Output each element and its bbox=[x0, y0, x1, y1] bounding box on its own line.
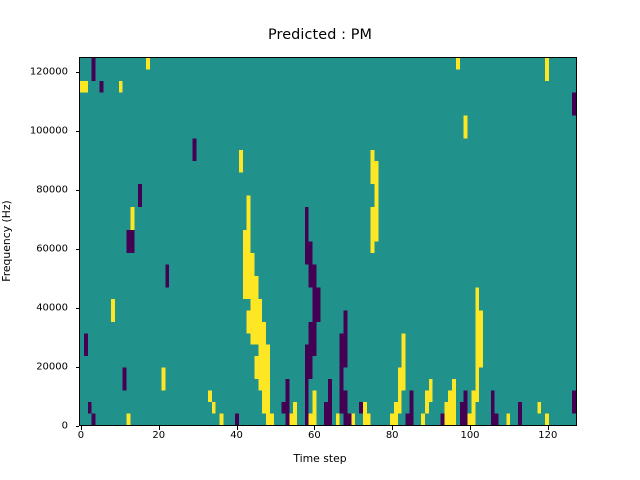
x-tick-mark bbox=[81, 426, 82, 430]
x-tick-label: 0 bbox=[78, 430, 84, 441]
y-tick-mark bbox=[76, 190, 80, 191]
y-tick-mark bbox=[76, 131, 80, 132]
y-tick-mark bbox=[76, 308, 80, 309]
x-tick-mark bbox=[314, 426, 315, 430]
x-tick-mark bbox=[159, 426, 160, 430]
heatmap-canvas bbox=[80, 58, 576, 425]
y-tick-label: 80000 bbox=[36, 184, 68, 195]
x-tick-mark bbox=[237, 426, 238, 430]
x-tick-label: 60 bbox=[308, 430, 321, 441]
page-title: Predicted : PM bbox=[0, 27, 640, 43]
x-tick-label: 120 bbox=[538, 430, 557, 441]
y-tick-label: 0 bbox=[62, 421, 68, 432]
y-tick-label: 40000 bbox=[36, 302, 68, 313]
x-tick-mark bbox=[548, 426, 549, 430]
x-tick-label: 80 bbox=[386, 430, 399, 441]
y-tick-label: 60000 bbox=[36, 243, 68, 254]
x-axis-label: Time step bbox=[0, 452, 640, 465]
heatmap-plot-area[interactable] bbox=[79, 57, 577, 426]
y-tick-mark bbox=[76, 367, 80, 368]
y-tick-mark bbox=[76, 249, 80, 250]
matplotlib-figure: Predicted : PM 0200004000060000800001000… bbox=[0, 0, 640, 480]
x-tick-mark bbox=[392, 426, 393, 430]
y-tick-mark bbox=[76, 72, 80, 73]
y-tick-label: 120000 bbox=[30, 66, 68, 77]
x-tick-label: 100 bbox=[460, 430, 479, 441]
y-tick-label: 20000 bbox=[36, 361, 68, 372]
x-tick-label: 40 bbox=[230, 430, 243, 441]
y-tick-label: 100000 bbox=[30, 125, 68, 136]
x-tick-label: 20 bbox=[152, 430, 165, 441]
x-tick-mark bbox=[470, 426, 471, 430]
y-tick-mark bbox=[76, 426, 80, 427]
y-axis-label: Frequency (Hz) bbox=[0, 200, 13, 281]
